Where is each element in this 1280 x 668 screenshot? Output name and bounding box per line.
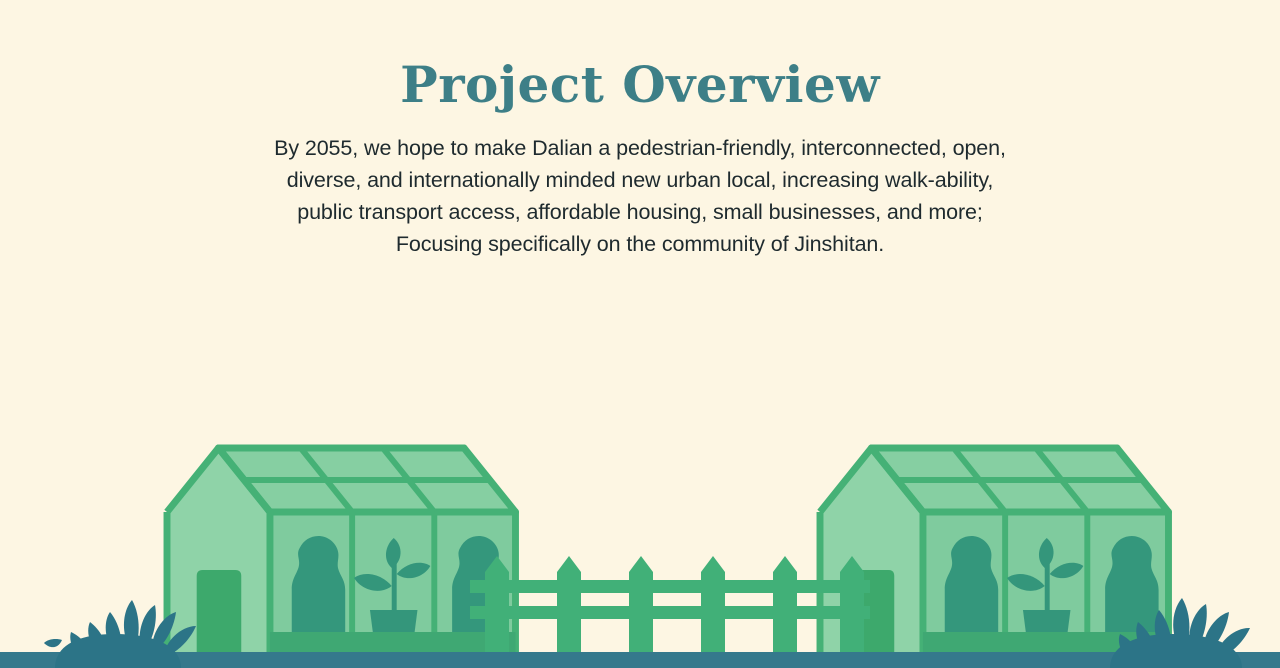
greenhouse-right <box>820 448 1168 656</box>
overview-body-text: By 2055, we hope to make Dalian a pedest… <box>0 132 1280 260</box>
text-block: Project Overview By 2055, we hope to mak… <box>0 0 1280 260</box>
greenhouse-left <box>167 448 515 656</box>
slide-canvas: Project Overview By 2055, we hope to mak… <box>0 0 1280 668</box>
ground-strip <box>0 652 1280 668</box>
fence-rail-top <box>470 580 870 593</box>
page-title: Project Overview <box>0 60 1280 110</box>
body-line-1: By 2055, we hope to make Dalian a pedest… <box>0 132 1280 164</box>
body-line-3: public transport access, affordable hous… <box>0 196 1280 228</box>
body-line-2: diverse, and internationally minded new … <box>0 164 1280 196</box>
picket-fence <box>470 556 870 656</box>
fence-rail-bottom <box>470 606 870 619</box>
body-line-4: Focusing specifically on the community o… <box>0 228 1280 260</box>
